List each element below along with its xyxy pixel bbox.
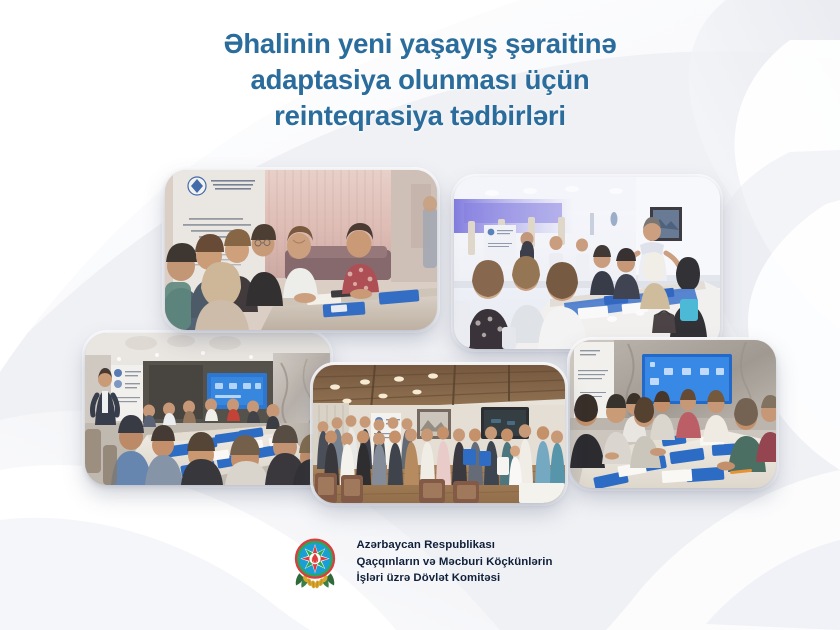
poster-canvas: Əhalinin yeni yaşayış şəraitinə adaptasi… [0,0,840,630]
collage-photo-group-photo-wooden-ceiling-hall[interactable] [313,365,565,503]
photo-1-scene [165,170,437,330]
collage-photo-round-table-blue-screen-discussion[interactable] [570,340,776,488]
collage-photo-conference-hall-long-table[interactable] [85,333,330,485]
collage-photo-white-hall-speaker-session[interactable] [454,177,720,349]
photo-4-scene [313,365,565,503]
org-line-1: Azərbaycan Respublikası [356,537,552,554]
azerbaijan-state-emblem-icon [287,534,343,590]
footer-branding: Azərbaycan Respublikası Qaçqınların və M… [0,534,840,590]
org-line-3: İşləri üzrə Dövlət Komitəsi [356,570,552,587]
organization-name: Azərbaycan Respublikası Qaçqınların və M… [356,537,552,587]
photo-5-scene [570,340,776,488]
photo-3-scene [85,333,330,485]
org-line-2: Qaçqınların və Məcburi Köçkünlərin [356,554,552,571]
collage-photo-meeting-room-women-banner[interactable] [165,170,437,330]
photo-2-scene [454,177,720,349]
